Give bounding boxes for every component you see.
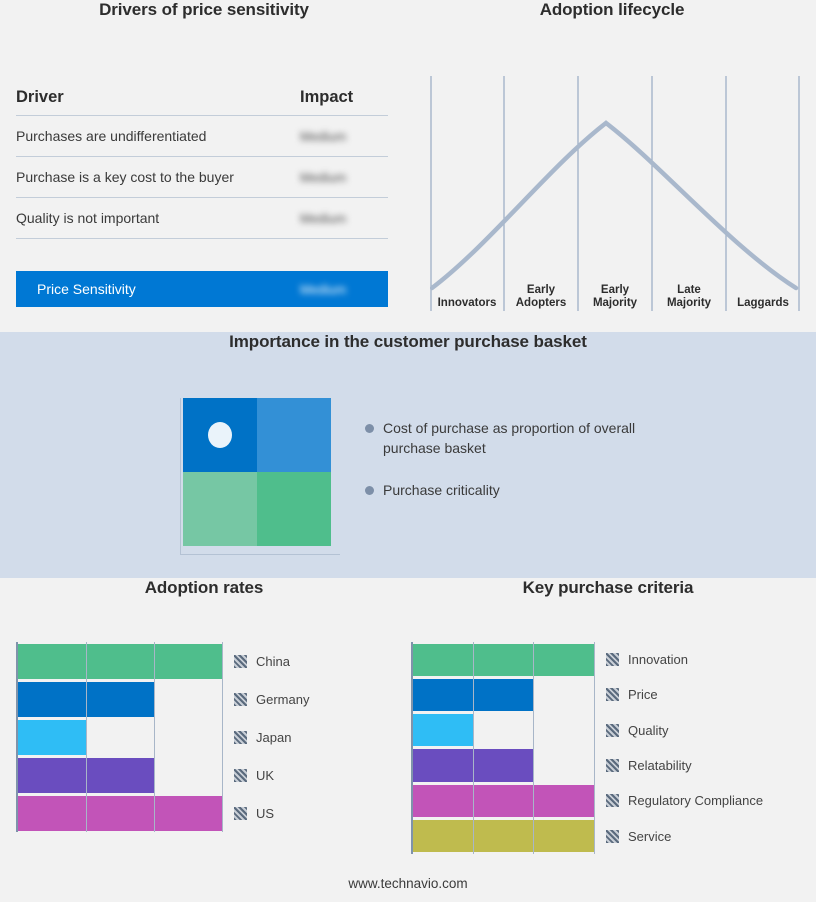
key-purchase-criteria-title: Key purchase criteria (400, 578, 816, 598)
legend-label: Service (628, 829, 671, 844)
legend-label: Japan (256, 730, 291, 745)
adoption-legend: ChinaGermanyJapanUKUS (234, 642, 309, 832)
bar (18, 796, 222, 831)
driver-name: Purchase is a key cost to the buyer (16, 169, 300, 185)
price-sensitivity-highlight-row: Price Sensitivity Medium (16, 271, 388, 307)
legend-label: UK (256, 768, 274, 783)
drivers-table-header: Driver Impact (16, 88, 388, 116)
legend-item: Japan (234, 718, 309, 756)
bar (413, 820, 594, 852)
highlight-impact-value: Medium (300, 282, 388, 297)
legend-item: Service (606, 819, 763, 854)
bar (18, 720, 86, 755)
importance-legend: Cost of purchase as proportion of overal… (365, 418, 665, 522)
quadrant-cell-bottom-right (257, 472, 331, 546)
table-row: Purchase is a key cost to the buyer Medi… (16, 157, 388, 198)
lifecycle-svg (430, 76, 800, 311)
impact-value: Medium (300, 211, 388, 226)
criteria-bars (413, 642, 594, 854)
bullet-dot-icon (365, 486, 374, 495)
adoption-rates-panel: Adoption rates ChinaGermanyJapanUKUS (0, 578, 408, 902)
bar-row (413, 748, 594, 783)
lifecycle-stage-innovators: Innovators (430, 281, 504, 311)
hatched-swatch-icon (234, 769, 247, 782)
bar-row (413, 783, 594, 818)
importance-title: Importance in the customer purchase bask… (0, 332, 816, 352)
stage-line-2: Innovators (438, 297, 497, 310)
legend-label: Quality (628, 723, 668, 738)
gridline (473, 642, 474, 854)
hatched-swatch-icon (234, 655, 247, 668)
quadrant-y-axis (180, 398, 181, 555)
bar-row (413, 713, 594, 748)
stage-line-2: Majority (593, 297, 637, 310)
adoption-rates-title: Adoption rates (0, 578, 408, 598)
impact-value: Medium (300, 170, 388, 185)
drivers-title: Drivers of price sensitivity (0, 0, 408, 20)
hatched-swatch-icon (606, 794, 619, 807)
footer-url: www.technavio.com (0, 876, 816, 891)
legend-label: Relatability (628, 758, 692, 773)
lifecycle-stage-labels: Innovators Early Adopters Early Majority… (430, 281, 800, 311)
gridline (594, 642, 595, 854)
criteria-legend: InnovationPriceQualityRelatabilityRegula… (606, 642, 763, 854)
legend-item: Innovation (606, 642, 763, 677)
bar-row (18, 680, 222, 718)
lifecycle-curve (432, 123, 796, 288)
bullet-dot-icon (365, 424, 374, 433)
legend-label: Regulatory Compliance (628, 793, 763, 808)
bar-row (18, 756, 222, 794)
list-item: Purchase criticality (365, 480, 665, 500)
legend-label: Purchase criticality (383, 480, 500, 500)
bar-row (18, 718, 222, 756)
bar-row (18, 794, 222, 832)
quadrant-cell-bottom-left (183, 472, 257, 546)
table-row: Quality is not important Medium (16, 198, 388, 239)
stage-line-2: Majority (667, 297, 711, 310)
bar-row (413, 819, 594, 854)
list-item: Cost of purchase as proportion of overal… (365, 418, 665, 458)
table-row: Purchases are undifferentiated Medium (16, 116, 388, 157)
legend-item: UK (234, 756, 309, 794)
hatched-swatch-icon (606, 830, 619, 843)
lifecycle-title: Adoption lifecycle (408, 0, 816, 20)
importance-panel: Importance in the customer purchase bask… (0, 332, 816, 578)
hatched-swatch-icon (606, 759, 619, 772)
gridline (533, 642, 534, 854)
legend-item: Quality (606, 713, 763, 748)
quadrant-chart (183, 398, 331, 546)
lifecycle-stage-early-adopters: Early Adopters (504, 281, 578, 311)
legend-label: China (256, 654, 290, 669)
bar-row (413, 677, 594, 712)
legend-label: Cost of purchase as proportion of overal… (383, 418, 665, 458)
driver-name: Purchases are undifferentiated (16, 128, 300, 144)
legend-item: China (234, 642, 309, 680)
drivers-panel: Drivers of price sensitivity Driver Impa… (0, 0, 408, 332)
legend-item: Relatability (606, 748, 763, 783)
stage-line-2: Laggards (737, 297, 789, 310)
key-purchase-criteria-panel: Key purchase criteria InnovationPriceQua… (400, 578, 816, 902)
lifecycle-stage-late-majority: Late Majority (652, 281, 726, 311)
quadrant-marker-dot (208, 422, 232, 448)
hatched-swatch-icon (606, 724, 619, 737)
lifecycle-bell-curve-chart (430, 76, 800, 311)
lifecycle-stage-laggards: Laggards (726, 281, 800, 311)
gridline (86, 642, 87, 832)
stage-line-1: Early (601, 284, 629, 297)
quadrant-x-axis (180, 554, 340, 555)
highlight-driver-name: Price Sensitivity (16, 281, 300, 297)
legend-label: Price (628, 687, 658, 702)
bar (18, 644, 222, 679)
stage-line-2: Adopters (516, 297, 566, 310)
driver-name: Quality is not important (16, 210, 300, 226)
hatched-swatch-icon (606, 653, 619, 666)
impact-value: Medium (300, 129, 388, 144)
hatched-swatch-icon (234, 731, 247, 744)
legend-item: US (234, 794, 309, 832)
bar (413, 785, 594, 817)
criteria-plot-area (411, 642, 594, 854)
stage-line-1: Late (677, 284, 701, 297)
lifecycle-gridlines (431, 76, 799, 311)
adoption-rates-chart: ChinaGermanyJapanUKUS (16, 642, 396, 832)
adoption-plot-area (16, 642, 222, 832)
bar (413, 644, 594, 676)
legend-item: Germany (234, 680, 309, 718)
legend-label: Germany (256, 692, 309, 707)
key-purchase-criteria-chart: InnovationPriceQualityRelatabilityRegula… (411, 642, 806, 854)
column-header-driver: Driver (16, 88, 300, 107)
drivers-table: Driver Impact Purchases are undifferenti… (16, 88, 388, 239)
bar-row (413, 642, 594, 677)
adoption-bars (18, 642, 222, 832)
legend-label: Innovation (628, 652, 688, 667)
quadrant-cell-top-right (257, 398, 331, 472)
bar-row (18, 642, 222, 680)
lifecycle-stage-early-majority: Early Majority (578, 281, 652, 311)
legend-item: Price (606, 677, 763, 712)
lifecycle-panel: Adoption lifecycle Innovators Early Adop… (408, 0, 816, 332)
gridline (222, 642, 223, 832)
stage-line-1: Early (527, 284, 555, 297)
hatched-swatch-icon (234, 693, 247, 706)
hatched-swatch-icon (234, 807, 247, 820)
hatched-swatch-icon (606, 688, 619, 701)
legend-item: Regulatory Compliance (606, 783, 763, 818)
legend-label: US (256, 806, 274, 821)
bar (413, 714, 473, 746)
column-header-impact: Impact (300, 88, 388, 107)
quadrant-cell-top-left (183, 398, 257, 472)
gridline (154, 642, 155, 832)
